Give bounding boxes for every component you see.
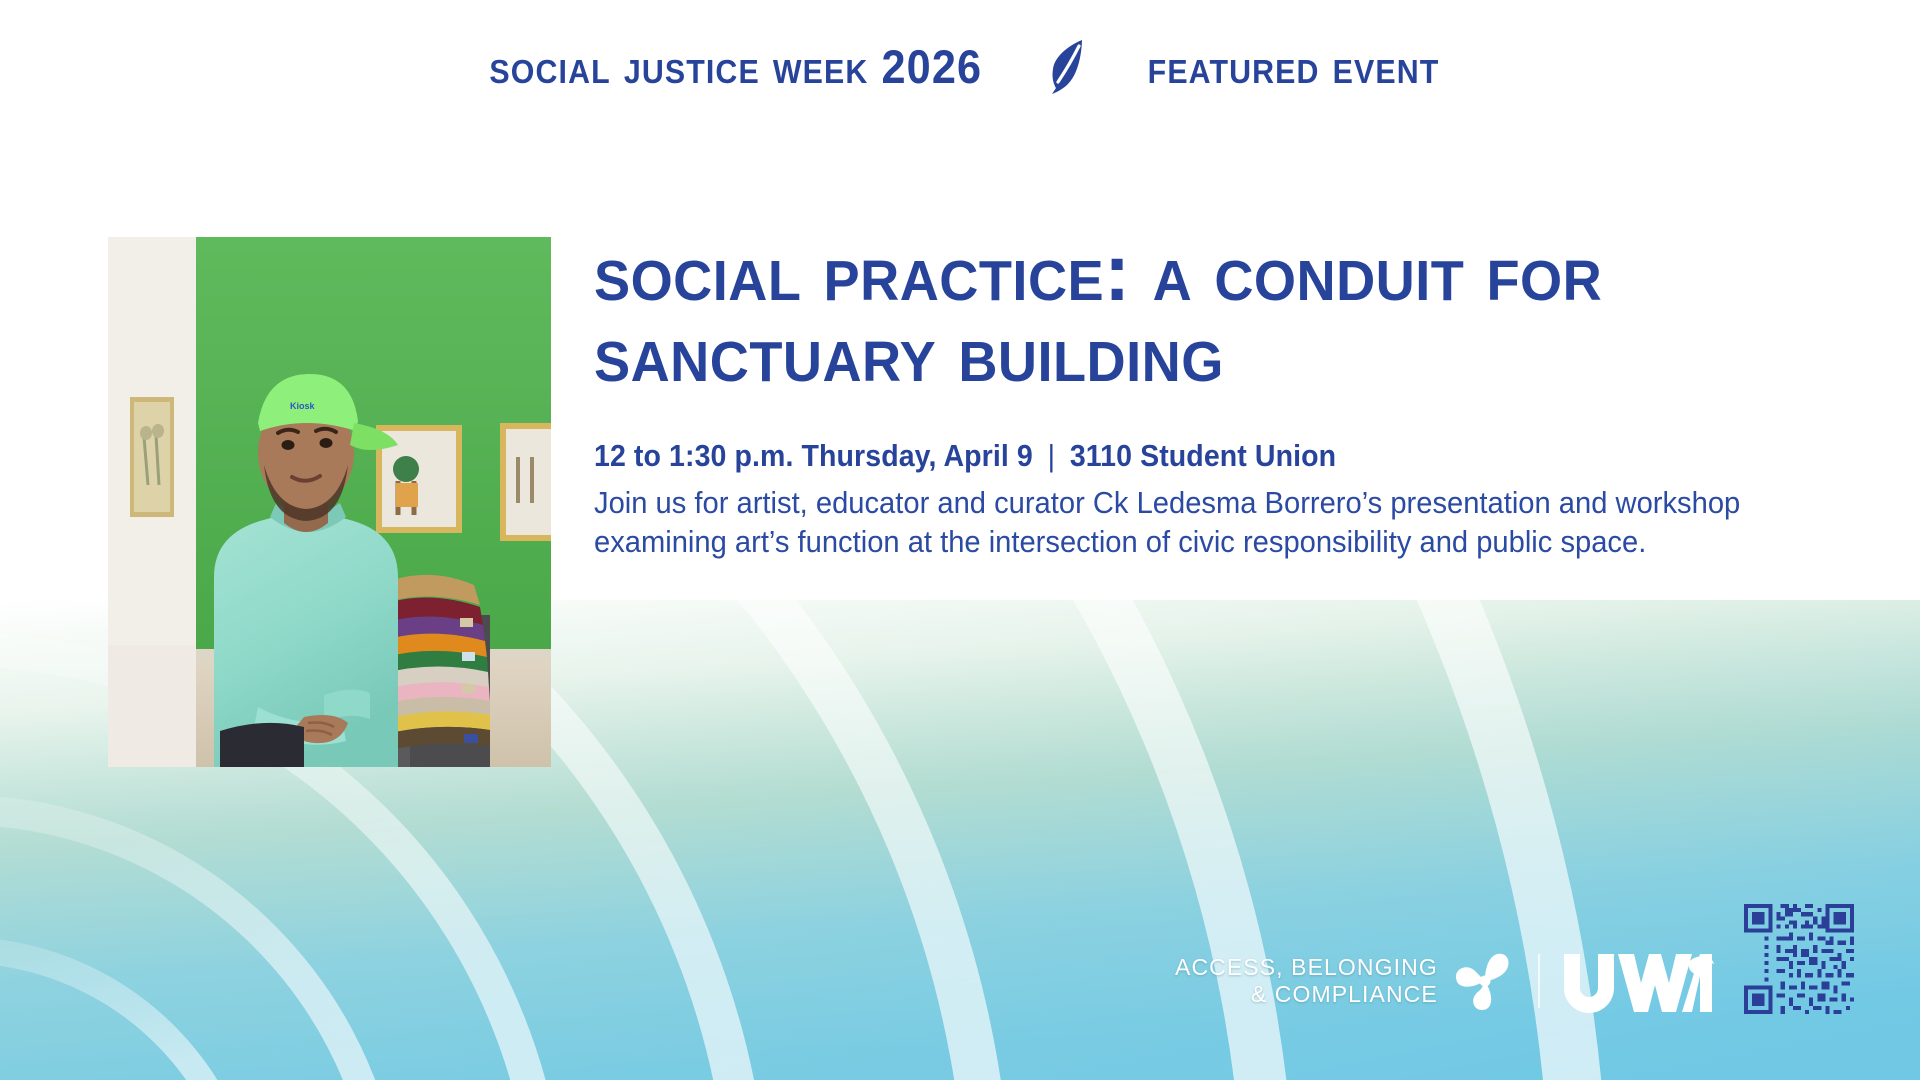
unit-name: ACCESS, BELONGING & COMPLIANCE [1175, 954, 1438, 1008]
event-description: Join us for artist, educator and curator… [594, 483, 1755, 561]
leaf-icon [1049, 38, 1089, 94]
svg-text:Kiosk: Kiosk [290, 401, 316, 411]
unit-name-line2: & COMPLIANCE [1175, 981, 1438, 1008]
event-photo: Kiosk [108, 237, 551, 767]
meta-separator: | [1033, 438, 1070, 474]
logo-divider [1538, 954, 1540, 1008]
qr-code[interactable] [1740, 900, 1858, 1018]
pinwheel-icon [1452, 948, 1518, 1014]
featured-event-badge: Featured Event [1148, 39, 1440, 94]
event-meta: 12 to 1:30 p.m. Thursday, April 9|3110 S… [594, 438, 1744, 474]
poster-canvas: Social Justice Week 2026 Featured Event [0, 0, 1920, 1080]
uwm-wordmark [1560, 948, 1715, 1014]
event-location: 3110 Student Union [1070, 438, 1336, 473]
footer-logo-lockup: ACCESS, BELONGING & COMPLIANCE [1175, 948, 1715, 1014]
event-content: Social Practice: A Conduit for Sanctuary… [594, 232, 1844, 561]
campaign-title: Social Justice Week 2026 [489, 39, 982, 94]
event-title: Social Practice: A Conduit for Sanctuary… [594, 232, 1668, 394]
header-bar: Social Justice Week 2026 Featured Event [0, 38, 1920, 94]
event-datetime: 12 to 1:30 p.m. Thursday, April 9 [594, 438, 1033, 473]
unit-name-line1: ACCESS, BELONGING [1175, 954, 1438, 981]
